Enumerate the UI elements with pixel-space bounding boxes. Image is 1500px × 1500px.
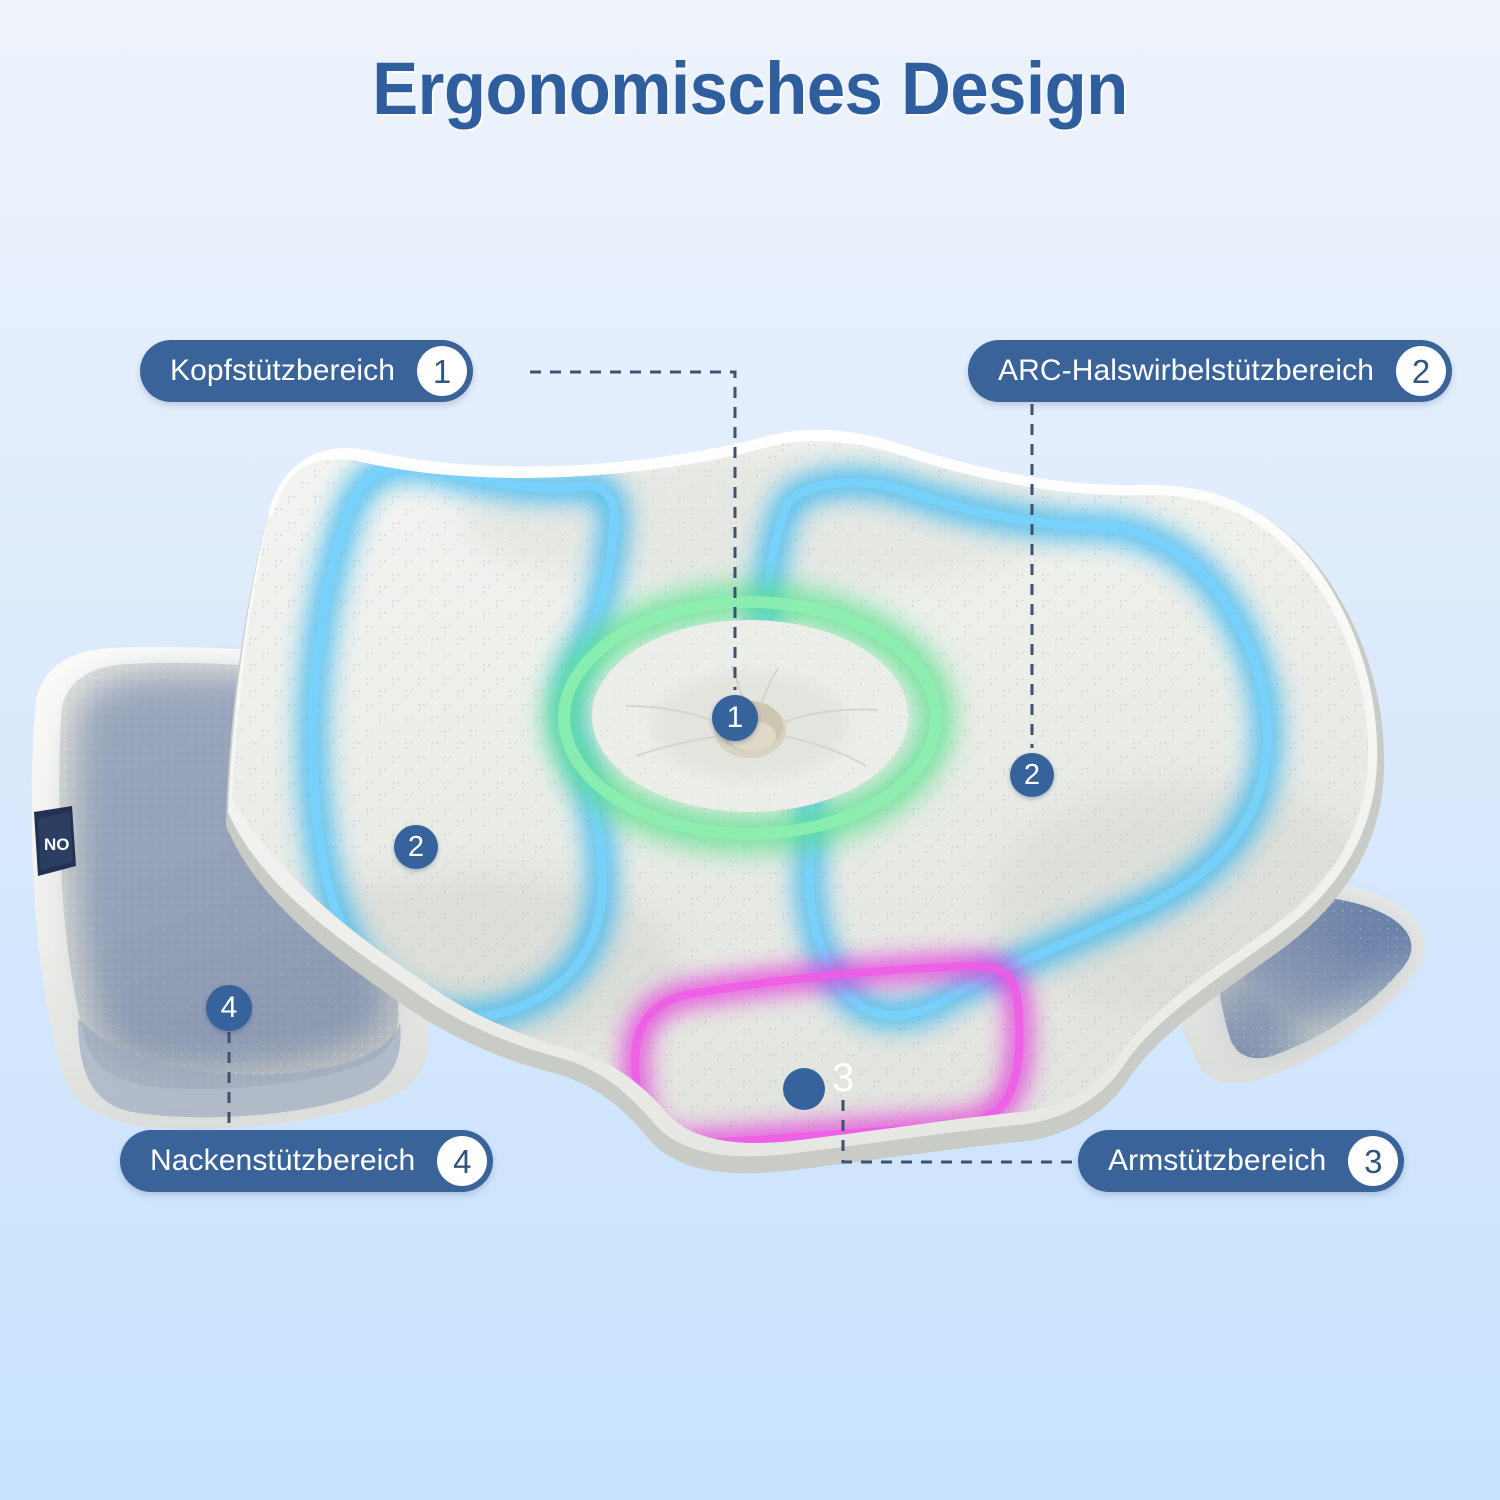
brand-tag: NO bbox=[34, 806, 76, 876]
callout-number: 2 bbox=[1396, 346, 1446, 396]
callout-arc-halswirbelstuetzbereich[interactable]: ARC-Halswirbelstützbereich 2 bbox=[968, 340, 1452, 402]
marker-3-dot[interactable] bbox=[783, 1068, 825, 1110]
marker-1[interactable]: 1 bbox=[712, 695, 758, 741]
zone-arm-support bbox=[635, 966, 1019, 1144]
pillow-body bbox=[226, 430, 1390, 1174]
callout-label: Kopfstützbereich bbox=[170, 354, 417, 388]
marker-2-right[interactable]: 2 bbox=[1010, 753, 1054, 797]
zone-arc-cervical-right bbox=[765, 482, 1268, 1015]
callout-number: 4 bbox=[437, 1136, 487, 1186]
callout-nackenstuetzbereich[interactable]: Nackenstützbereich 4 bbox=[120, 1130, 493, 1192]
pillow-right-wing bbox=[1080, 522, 1425, 1084]
marker-3-number: 3 bbox=[832, 1058, 854, 1098]
svg-text:NO: NO bbox=[44, 835, 70, 854]
callout-kopfstuetzbereich[interactable]: Kopfstützbereich 1 bbox=[140, 340, 473, 402]
callout-label: Nackenstützbereich bbox=[150, 1144, 437, 1178]
pillow-illustration: NO bbox=[0, 0, 1500, 1500]
callout-label: ARC-Halswirbelstützbereich bbox=[998, 354, 1396, 388]
pillow-left-wing: NO bbox=[32, 647, 429, 1129]
page-title: Ergonomisches Design bbox=[53, 46, 1448, 131]
callout-armstuetzbereich[interactable]: Armstützbereich 3 bbox=[1078, 1130, 1404, 1192]
connector-1 bbox=[530, 372, 735, 690]
callout-number: 1 bbox=[417, 346, 467, 396]
infographic-canvas: Ergonomisches Design bbox=[0, 0, 1500, 1500]
callout-number: 3 bbox=[1348, 1136, 1398, 1186]
callout-label: Armstützbereich bbox=[1108, 1144, 1348, 1178]
marker-2-left[interactable]: 2 bbox=[394, 825, 438, 869]
connector-3 bbox=[843, 1100, 1078, 1162]
marker-4[interactable]: 4 bbox=[206, 985, 252, 1031]
connector-lines bbox=[0, 0, 1500, 1500]
zone-arc-cervical-left bbox=[312, 466, 614, 1018]
